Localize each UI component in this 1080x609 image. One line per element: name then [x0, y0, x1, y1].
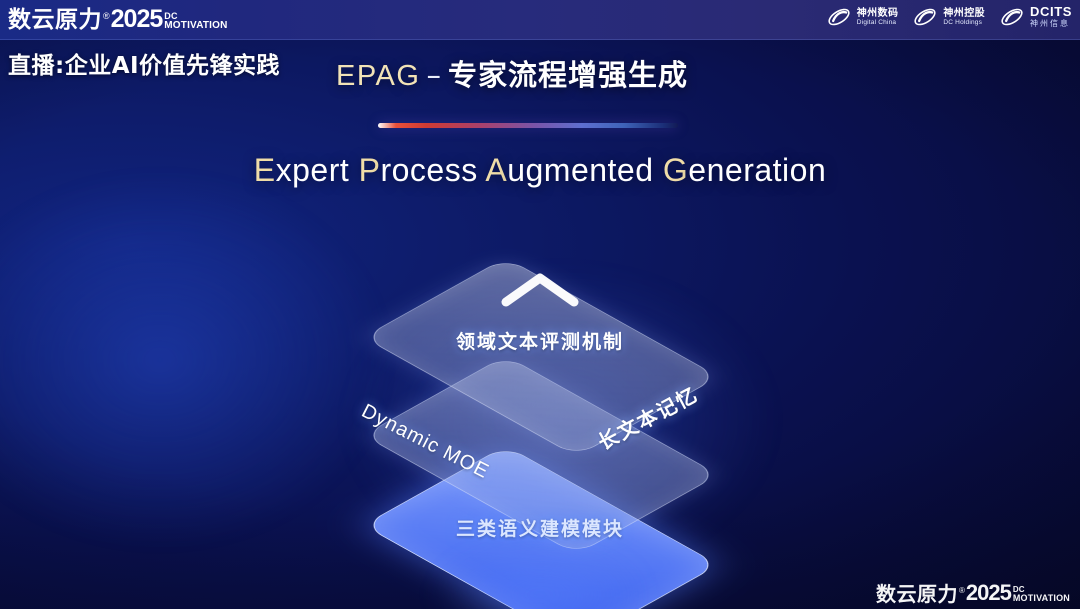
brand-dc-motivation: DC MOTIVATION [164, 12, 227, 31]
subtitle-cap-a: A [485, 152, 507, 188]
brand-name-cn: 数云原力 [8, 9, 102, 32]
brand-year: 2025 [111, 7, 163, 32]
stack-label-top: 领域文本评测机制 [272, 327, 808, 354]
subtitle-word-process: rocess [380, 152, 477, 188]
partner-logo-dcits: DCITS 神州信息 [999, 4, 1072, 30]
partner-name-en: Digital China [857, 19, 899, 26]
page-title-acronym: EPAG [336, 60, 420, 92]
partner-logo-digital-china: 神州数码 Digital China [826, 4, 899, 30]
partner-name-cn: 神州控股 [943, 8, 985, 19]
registered-mark-icon: ® [103, 12, 110, 21]
live-stream-title: 直播:企业AI价值先锋实践 [8, 46, 280, 80]
stack-label-bottom: 三类语义建模模块 [272, 514, 808, 541]
brand-dc-line2: MOTIVATION [164, 21, 227, 31]
partner-label: DCITS 神州信息 [1030, 5, 1072, 29]
swirl-logo-icon [912, 4, 938, 30]
brand-dc-line2: MOTIVATION [1013, 594, 1070, 603]
slide-canvas: 数云原力 ® 2025 DC MOTIVATION 神州数码 Digital C… [0, 0, 1080, 609]
subtitle-word-augmented: ugmented [507, 152, 653, 188]
partner-name-cn: 神州数码 [857, 8, 899, 19]
page-title: EPAG–专家流程增强生成 [336, 52, 688, 94]
layered-stack-diagram: 领域文本评测机制 Dynamic MOE 长文本记忆 三类语义建模模块 [272, 222, 808, 594]
partner-label: 神州数码 Digital China [857, 8, 899, 26]
swirl-logo-icon [826, 4, 852, 30]
gradient-divider [378, 123, 678, 128]
partner-label: 神州控股 DC Holdings [943, 8, 985, 26]
brand-dc-motivation: DC MOTIVATION [1013, 586, 1070, 603]
brand-logo-top: 数云原力 ® 2025 DC MOTIVATION [8, 7, 228, 32]
brand-logo-watermark: 数云原力 ® 2025 DC MOTIVATION [876, 582, 1070, 604]
chevron-up-icon [500, 270, 580, 308]
subtitle-cap-g: G [663, 152, 688, 188]
partner-logo-dc-holdings: 神州控股 DC Holdings [912, 4, 985, 30]
page-title-chinese: 专家流程增强生成 [448, 58, 688, 92]
subtitle-word-expert: xpert [276, 152, 350, 188]
brand-year: 2025 [966, 582, 1011, 604]
page-subtitle: Expert Process Augmented Generation [0, 152, 1080, 189]
swirl-logo-icon [999, 4, 1025, 30]
partner-name-cn: 神州信息 [1030, 20, 1072, 29]
page-title-dash: – [426, 58, 442, 92]
subtitle-cap-p: P [359, 152, 381, 188]
registered-mark-icon: ® [959, 587, 965, 595]
subtitle-cap-e: E [254, 152, 276, 188]
brand-name-cn: 数云原力 [876, 584, 958, 604]
partner-name-en: DCITS [1030, 5, 1072, 20]
partner-logo-group: 神州数码 Digital China 神州控股 DC Holdings [826, 4, 1072, 30]
stack-layer-top [272, 222, 808, 490]
partner-name-en: DC Holdings [943, 19, 985, 26]
subtitle-word-generation: eneration [688, 152, 826, 188]
